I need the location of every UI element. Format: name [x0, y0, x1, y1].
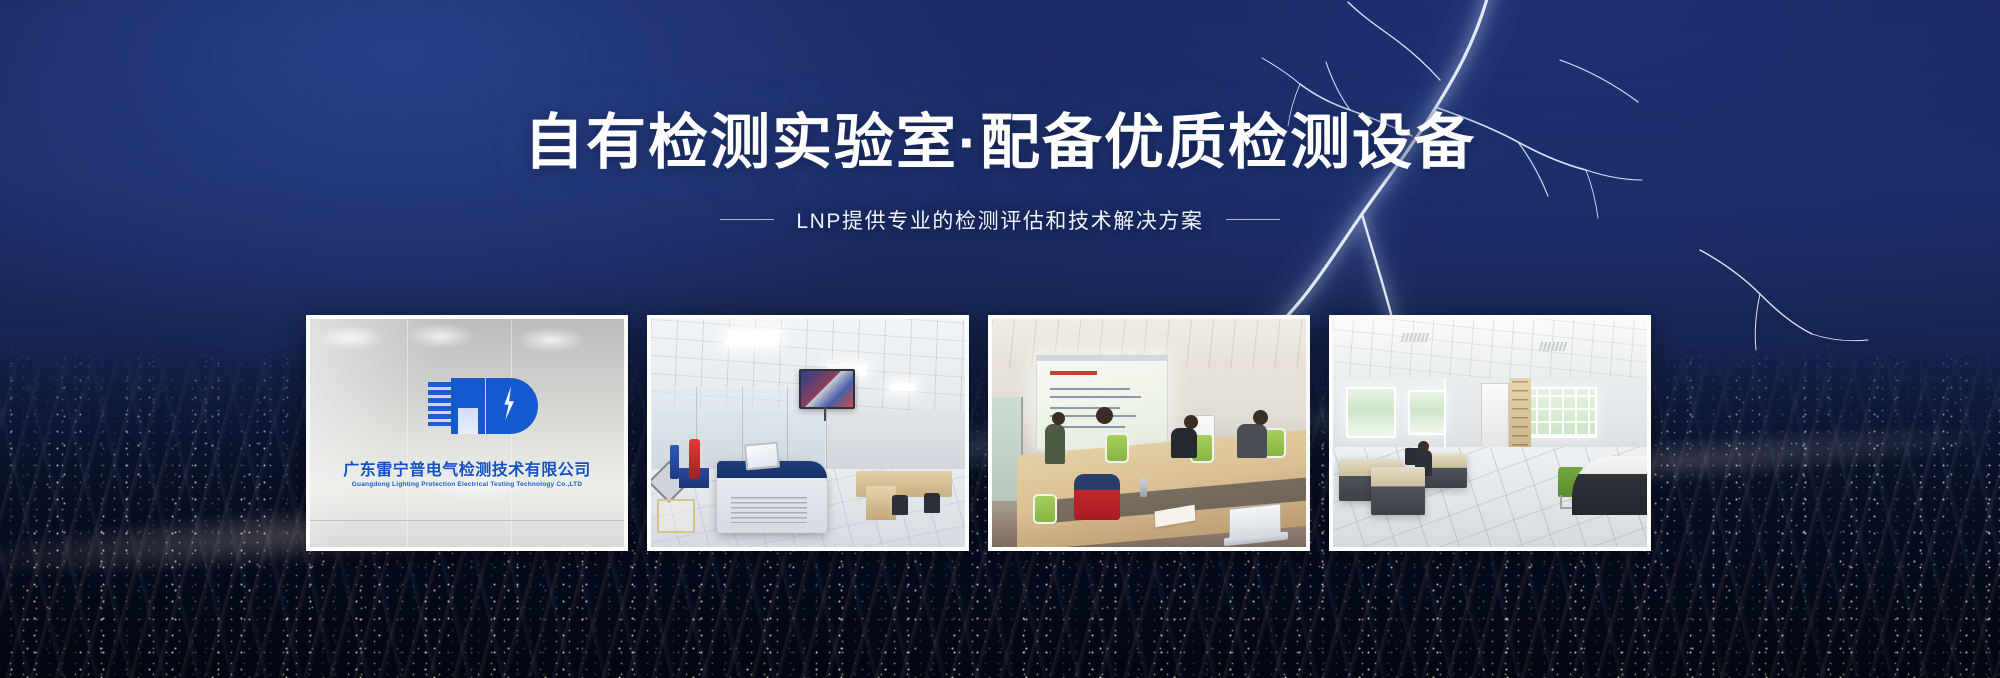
- lnp-logo-icon: [428, 378, 538, 434]
- hv-insulator-blue: [670, 445, 679, 479]
- gallery-item-hv-laboratory[interactable]: [647, 315, 969, 551]
- page-title: 自有检测实验室·配备优质检测设备: [0, 108, 2000, 179]
- office-window-grid: [1521, 387, 1596, 437]
- floor-line: [310, 520, 624, 521]
- ceiling-panel-light: [724, 330, 783, 346]
- slide-title-bar: [1037, 356, 1167, 361]
- slide-line: [1050, 388, 1131, 390]
- company-name-en: Guangdong Lighting Protection Electrical…: [352, 481, 582, 488]
- ceiling-panel-light: [889, 383, 917, 391]
- wall-seam: [407, 319, 408, 547]
- test-control-console: [717, 461, 827, 533]
- wooden-bookshelf: [1509, 378, 1531, 451]
- attendee-person: [1237, 424, 1267, 458]
- ceiling-spot-reflection: [516, 327, 586, 353]
- slide-heading: [1050, 371, 1097, 375]
- ceiling-air-vent: [1539, 342, 1568, 351]
- hero-copy: 自有检测实验室·配备优质检测设备 LNP提供专业的检测评估和技术解决方案: [0, 108, 2000, 235]
- logo-p-shape: [486, 378, 538, 434]
- ceiling-air-vent: [1401, 333, 1430, 342]
- photo-hv-laboratory: [651, 319, 965, 547]
- gallery-item-training-room[interactable]: [988, 315, 1310, 551]
- page-subtitle: LNP提供专业的检测评估和技术解决方案: [796, 205, 1203, 235]
- gallery-item-open-office[interactable]: [1329, 315, 1651, 551]
- laptop-computer: [1229, 503, 1281, 538]
- wall-display-screen: [799, 369, 855, 409]
- logo-n-shape: [451, 378, 485, 434]
- office-desk: [1371, 467, 1425, 515]
- thermos-cup: [1140, 479, 1147, 497]
- photo-lobby-signage: 广东雷宁普电气检测技术有限公司 Guangdong Lighting Prote…: [310, 319, 624, 547]
- white-storage-cabinet: [1481, 383, 1509, 451]
- green-meeting-chair: [1105, 433, 1129, 463]
- hv-insulator-red: [689, 439, 700, 479]
- bench-cabinet: [866, 486, 896, 520]
- rule-left-icon: [720, 219, 774, 220]
- wooden-test-stand: [657, 499, 695, 533]
- rule-right-icon: [1226, 219, 1280, 220]
- subtitle-row: LNP提供专业的检测评估和技术解决方案: [0, 205, 2000, 235]
- attendee-person-red-jacket: [1074, 474, 1120, 520]
- ceiling-spot-reflection: [316, 325, 386, 351]
- attendee-head: [1253, 410, 1268, 425]
- company-name-cn: 广东雷宁普电气检测技术有限公司: [343, 456, 591, 480]
- attendee-head: [1184, 415, 1198, 429]
- photo-gallery: 广东雷宁普电气检测技术有限公司 Guangdong Lighting Prote…: [306, 315, 1651, 551]
- office-window: [1346, 387, 1396, 437]
- hero-banner: 自有检测实验室·配备优质检测设备 LNP提供专业的检测评估和技术解决方案: [0, 0, 2000, 678]
- office-window: [1408, 390, 1446, 436]
- attendee-person: [1171, 428, 1197, 458]
- green-meeting-chair: [1033, 494, 1057, 524]
- attendee-head: [1096, 407, 1113, 424]
- ceiling-spot-reflection: [406, 323, 476, 349]
- gallery-item-lobby-signage[interactable]: 广东雷宁普电气检测技术有限公司 Guangdong Lighting Prote…: [306, 315, 628, 551]
- slide-line: [1050, 396, 1141, 398]
- console-monitor: [744, 442, 780, 471]
- office-chair: [924, 493, 940, 513]
- office-ceiling: [1333, 319, 1647, 378]
- presenter-person: [1045, 424, 1065, 464]
- photo-open-office: [1333, 319, 1647, 547]
- photo-training-room: [992, 319, 1306, 547]
- office-chair: [892, 495, 908, 515]
